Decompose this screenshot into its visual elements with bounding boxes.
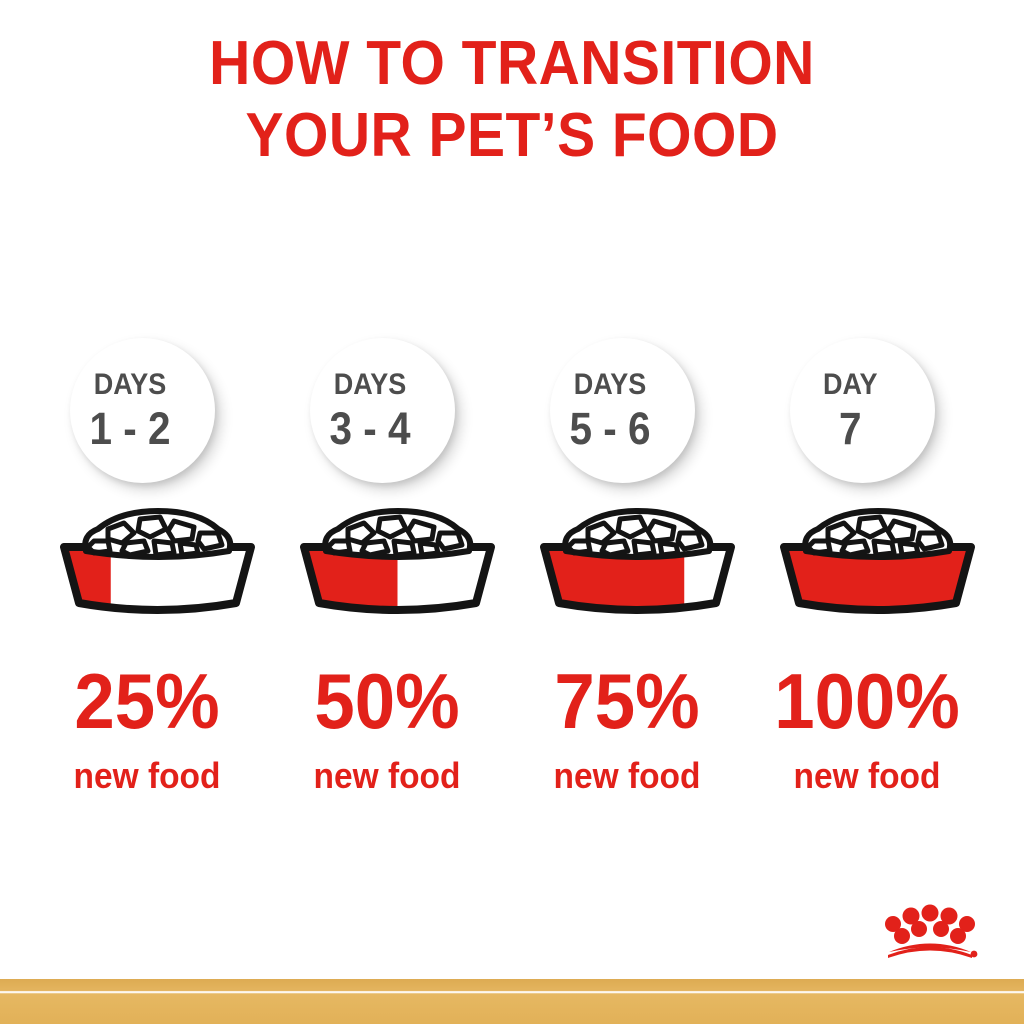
day-badge-number: 5 - 6: [570, 406, 651, 451]
day-badge-number: 7: [823, 406, 878, 451]
percent-caption: new food: [529, 755, 724, 797]
day-badge: DAY 7: [790, 338, 935, 483]
royal-canin-crown-logo: [880, 898, 980, 962]
day-badge-word: DAYS: [570, 370, 651, 400]
percent-block: 100% new food: [762, 663, 994, 797]
day-badge-wrapper: DAYS 3 - 4: [282, 330, 514, 505]
transition-step: DAYS 5 - 6: [522, 330, 754, 797]
percent-caption: new food: [289, 755, 484, 797]
transition-step: DAYS 1 - 2: [42, 330, 274, 797]
bowl-wrapper: [282, 505, 514, 625]
day-badge-wrapper: DAYS 1 - 2: [42, 330, 274, 505]
pet-food-bowl-icon: [530, 505, 745, 617]
day-badge: DAYS 3 - 4: [310, 338, 455, 483]
day-badge-word: DAYS: [90, 370, 171, 400]
bowl-wrapper: [522, 505, 754, 625]
pet-food-bowl-icon: [50, 505, 265, 617]
percent-block: 25% new food: [42, 663, 274, 797]
pet-food-bowl-icon: [290, 505, 505, 617]
percent-block: 50% new food: [282, 663, 514, 797]
transition-step: DAYS 3 - 4: [282, 330, 514, 797]
page-title-line-1: HOW TO TRANSITION: [41, 28, 983, 100]
pet-food-bowl-icon: [770, 505, 985, 617]
day-badge-number: 3 - 4: [330, 406, 411, 451]
footer-gold-band: [0, 979, 1024, 1024]
page-title: HOW TO TRANSITION YOUR PET’S FOOD: [0, 28, 1024, 172]
page-title-line-2: YOUR PET’S FOOD: [41, 100, 983, 172]
day-badge-word: DAY: [823, 370, 878, 400]
percent-block: 75% new food: [522, 663, 754, 797]
percent-caption: new food: [769, 755, 964, 797]
day-badge-word: DAYS: [330, 370, 411, 400]
day-badge-number: 1 - 2: [90, 406, 171, 451]
day-badge: DAYS 5 - 6: [550, 338, 695, 483]
day-badge-wrapper: DAY 7: [762, 330, 994, 505]
transition-steps: DAYS 1 - 2: [0, 330, 1024, 797]
percent-value: 100%: [769, 663, 964, 739]
transition-step: DAY 7: [762, 330, 994, 797]
percent-value: 25%: [49, 663, 244, 739]
percent-value: 50%: [289, 663, 484, 739]
bowl-wrapper: [42, 505, 274, 625]
bowl-wrapper: [762, 505, 994, 625]
percent-value: 75%: [529, 663, 724, 739]
percent-caption: new food: [49, 755, 244, 797]
day-badge-wrapper: DAYS 5 - 6: [522, 330, 754, 505]
day-badge: DAYS 1 - 2: [70, 338, 215, 483]
